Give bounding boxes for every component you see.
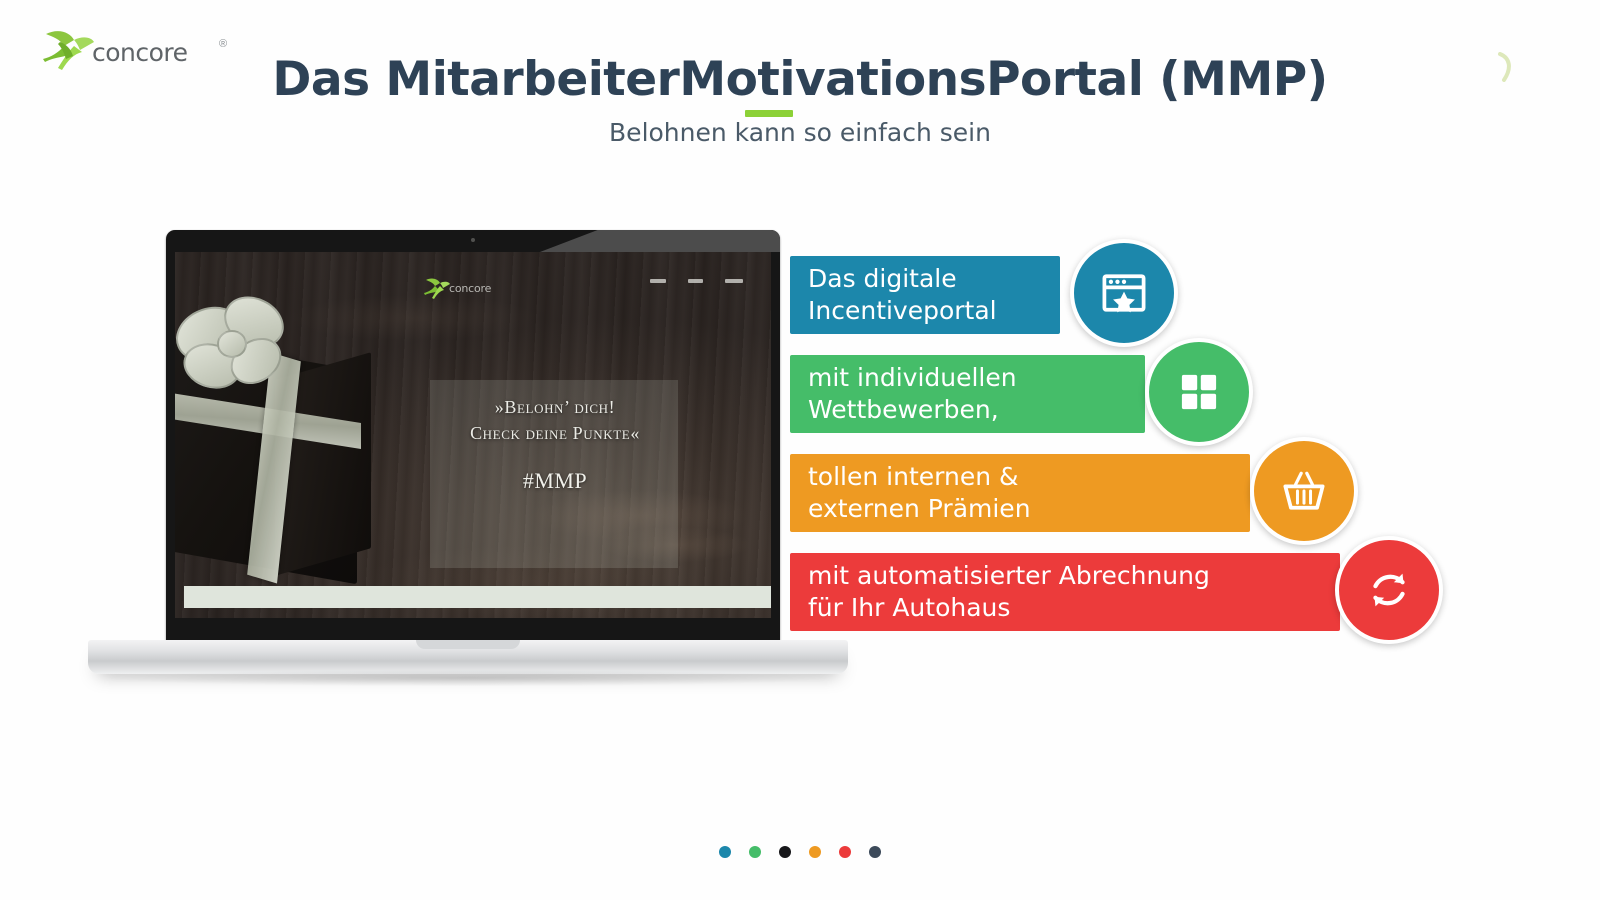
title-accent-underline (745, 110, 793, 117)
feature-text-line1: mit automatisierter Abrechnung (808, 560, 1340, 592)
feature-bar-wettbewerbe[interactable]: mit individuellen Wettbewerben, (790, 355, 1145, 433)
feature-text-line2: externen Prämien (808, 493, 1250, 525)
laptop-screen: concore »Belohn’ dich! Check deine Punkt… (175, 252, 771, 618)
concore-leaf-mark-icon (423, 276, 451, 300)
screen-site-logo-text: concore (449, 282, 491, 295)
feature-text-line1: tollen internen & (808, 461, 1250, 493)
page-subtitle: Belohnen kann so einfach sein (0, 118, 1600, 147)
feature-bar-incentiveportal[interactable]: Das digitale Incentiveportal (790, 256, 1060, 334)
page-title: Das MitarbeiterMotivationsPortal (MMP) (0, 52, 1600, 107)
laptop-lid-sheen (540, 230, 780, 252)
laptop-base (88, 640, 848, 674)
laptop-camera-icon (471, 238, 475, 242)
screen-hashtag: #MMP (365, 468, 745, 494)
screen-nav[interactable] (650, 279, 743, 283)
screen-headline: »Belohn’ dich! Check deine Punkte« (365, 394, 745, 446)
pagination-dot[interactable] (719, 846, 731, 858)
screen-site-logo[interactable]: concore (423, 274, 527, 304)
laptop-lid: concore »Belohn’ dich! Check deine Punkt… (166, 230, 780, 644)
screen-headline-line2: Check deine Punkte« (365, 420, 745, 446)
feature-bar-praemien[interactable]: tollen internen & externen Prämien (790, 454, 1250, 532)
feature-text-line1: mit individuellen (808, 362, 1145, 394)
feature-text-line2: für Ihr Autohaus (808, 592, 1340, 624)
pagination-dot[interactable] (839, 846, 851, 858)
screen-headline-line1: »Belohn’ dich! (365, 394, 745, 420)
pagination-dot[interactable] (749, 846, 761, 858)
pagination-dot[interactable] (869, 846, 881, 858)
screen-footer-bar (184, 586, 771, 608)
gift-bow-knot (217, 330, 247, 358)
screen-nav-item[interactable] (725, 279, 743, 283)
laptop-shadow (108, 670, 828, 686)
pagination-dots[interactable] (0, 846, 1600, 858)
pagination-dot[interactable] (809, 846, 821, 858)
screen-nav-item[interactable] (650, 279, 665, 283)
shopping-basket-icon[interactable] (1250, 437, 1358, 545)
grid-squares-icon[interactable] (1145, 338, 1253, 446)
sync-refresh-icon[interactable] (1335, 536, 1443, 644)
corner-flourish-icon (1496, 52, 1514, 82)
brand-registered-mark: ® (219, 38, 227, 50)
feature-bar-abrechnung[interactable]: mit automatisierter Abrechnung für Ihr A… (790, 553, 1340, 631)
pagination-dot-active[interactable] (779, 846, 791, 858)
feature-text-line1: Das digitale (808, 263, 1060, 295)
browser-window-star-icon[interactable] (1070, 239, 1178, 347)
feature-text-line2: Wettbewerben, (808, 394, 1145, 426)
screen-nav-item[interactable] (688, 279, 703, 283)
laptop-mockup: concore »Belohn’ dich! Check deine Punkt… (88, 230, 848, 690)
laptop-base-notch (416, 640, 520, 649)
feature-text-line2: Incentiveportal (808, 295, 1060, 327)
